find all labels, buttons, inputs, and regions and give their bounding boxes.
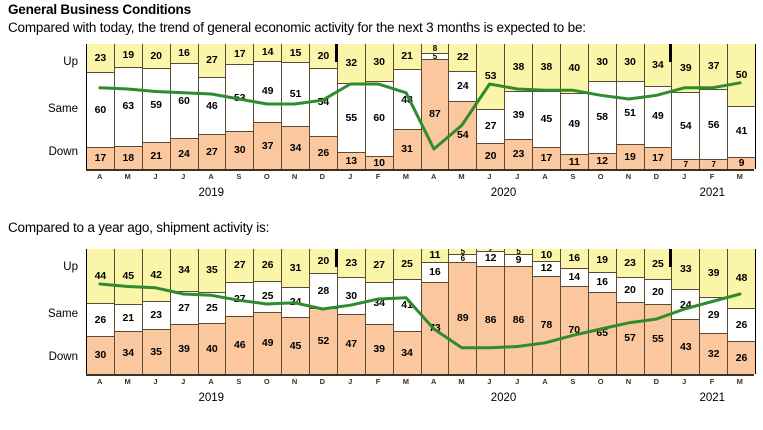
bar-value-label: 10: [541, 250, 553, 261]
bar-segment-up: 34: [171, 249, 198, 292]
bar-value-label: 30: [95, 350, 107, 361]
month-tick-label: D: [643, 377, 671, 386]
stacked-bar-column: 155134: [282, 44, 310, 169]
bar-value-label: 58: [596, 112, 608, 123]
bar-value-label: 21: [401, 51, 413, 62]
stacked-bar-column: 144937: [254, 44, 282, 169]
bar-segment-up: 31: [282, 249, 309, 288]
stacked-bar-column: 384517: [533, 44, 561, 169]
bar-value-label: 34: [290, 143, 302, 154]
bar-segment-down: 39: [171, 325, 198, 374]
bar-value-label: 18: [122, 153, 134, 164]
x-axis-year-labels: 201920202021: [86, 187, 754, 201]
bar-segment-down: 45: [282, 318, 309, 374]
month-tick-label: M: [114, 377, 142, 386]
bar-segment-up: 16: [561, 249, 588, 269]
bar-segment-down: 46: [226, 317, 253, 375]
stacked-bar-column: 196318: [115, 44, 143, 169]
bar-value-label: 41: [736, 126, 748, 137]
bar-segment-up: 25: [645, 249, 672, 280]
bar-value-label: 87: [429, 109, 441, 120]
bar-value-label: 30: [373, 57, 385, 68]
bar-segment-same: 41: [394, 280, 421, 331]
bar-segment-up: 39: [672, 44, 699, 93]
month-tick-label: F: [698, 172, 726, 181]
bar-segment-down: 24: [171, 139, 198, 169]
bar-segment-down: 32: [700, 334, 727, 374]
plot-area: 2360171963182059211660242746271753301449…: [86, 44, 756, 169]
plot-area: 4426304521344223353427393525402727462625…: [86, 249, 756, 374]
bar-segment-down: 52: [310, 309, 337, 374]
bar-value-label: 9: [739, 158, 745, 169]
bar-value-label: 17: [95, 153, 107, 164]
bar-value-label: 38: [513, 62, 525, 73]
bar-value-label: 49: [568, 119, 580, 130]
month-tick-label: N: [281, 377, 309, 386]
bar-segment-same: 49: [254, 62, 281, 123]
bar-value-label: 25: [206, 303, 218, 314]
bar-segment-same: 27: [477, 110, 504, 144]
bar-value-label: 20: [652, 287, 664, 298]
bar-segment-down: 87: [422, 60, 449, 169]
bar-segment-up: 14: [254, 44, 281, 62]
bar-value-label: 30: [596, 57, 608, 68]
stacked-bar-column: 232057: [617, 249, 645, 374]
stacked-bar-column: 352540: [199, 249, 227, 374]
bar-value-label: 45: [290, 341, 302, 352]
bar-value-label: 21: [122, 313, 134, 324]
bar-value-label: 34: [401, 348, 413, 359]
bar-value-label: 12: [485, 253, 497, 264]
bar-segment-same: 24: [449, 72, 476, 102]
bar-segment-same: 45: [533, 92, 560, 148]
bar-value-label: 43: [680, 342, 692, 353]
bar-value-label: 60: [373, 113, 385, 124]
bar-value-label: 7: [684, 161, 688, 169]
y-axis-label-same: Same: [48, 103, 78, 115]
bar-segment-same: 16: [589, 273, 616, 293]
stacked-bar-column: 37567: [700, 44, 728, 169]
bar-segment-same: 20: [617, 278, 644, 303]
bar-segment-up: 25: [394, 249, 421, 280]
stacked-bar-column: 332443: [672, 249, 700, 374]
bar-value-label: 16: [429, 267, 441, 278]
stacked-bar-column: 205921: [143, 44, 171, 169]
bar-value-label: 35: [206, 265, 218, 276]
bar-segment-up: 26: [254, 249, 281, 282]
bar-segment-same: 12: [477, 252, 504, 267]
bar-segment-up: 22: [449, 44, 476, 72]
y-axis-label-up: Up: [63, 261, 78, 273]
bar-segment-same: 29: [700, 298, 727, 334]
x-axis-month-labels: AMJJASONDJFMAMJJASONDJFM: [86, 377, 754, 386]
stacked-bar-column: 8587: [422, 44, 450, 169]
bar-value-label: 44: [95, 271, 107, 282]
bar-segment-down: 30: [226, 132, 253, 170]
bar-value-label: 26: [318, 148, 330, 159]
bar-segment-up: 45: [115, 249, 142, 305]
bar-value-label: 51: [624, 108, 636, 119]
bar-segment-up: 42: [143, 249, 170, 302]
bar-value-label: 54: [457, 130, 469, 141]
y-axis-labels: UpSameDown: [0, 44, 84, 169]
bar-segment-down: 26: [310, 137, 337, 170]
bar-segment-down: 27: [199, 135, 226, 169]
bar-value-label: 8: [433, 45, 437, 53]
bar-segment-same: 28: [310, 274, 337, 309]
bar-segment-down: 39: [366, 325, 393, 374]
stacked-bar-column: 344917: [645, 44, 673, 169]
bar-segment-down: 23: [505, 140, 532, 169]
month-tick-label: S: [559, 377, 587, 386]
bar-segment-down: 17: [533, 148, 560, 169]
bar-segment-up: 16: [171, 44, 198, 64]
bar-value-label: 48: [401, 95, 413, 106]
bar-value-label: 16: [178, 48, 190, 59]
bar-segment-down: 26: [728, 342, 755, 375]
bar-segment-down: 49: [254, 313, 281, 374]
bar-value-label: 37: [708, 61, 720, 72]
bar-value-label: 10: [373, 158, 385, 169]
bar-value-label: 14: [262, 47, 274, 58]
bar-value-label: 24: [178, 149, 190, 160]
month-tick-label: A: [531, 172, 559, 181]
month-tick-label: J: [476, 377, 504, 386]
bar-value-label: 27: [234, 260, 246, 271]
stacked-bar-column: 161470: [561, 249, 589, 374]
bar-value-label: 11: [569, 157, 580, 168]
year-divider: [335, 44, 337, 62]
bar-value-label: 59: [150, 100, 162, 111]
month-tick-label: M: [726, 172, 754, 181]
month-tick-label: A: [86, 172, 114, 181]
bar-segment-down: 73: [422, 283, 449, 374]
month-tick-label: O: [587, 377, 615, 386]
bar-value-label: 50: [736, 70, 748, 81]
bar-segment-up: 15: [282, 44, 309, 63]
bar-value-label: 33: [680, 264, 692, 275]
bar-value-label: 20: [624, 285, 636, 296]
bar-segment-down: 9: [728, 158, 755, 169]
month-tick-label: J: [336, 377, 364, 386]
stacked-bar-column: 205426: [310, 44, 338, 169]
bar-value-label: 53: [234, 93, 246, 104]
bar-segment-up: 48: [728, 249, 755, 309]
bar-value-label: 40: [206, 344, 218, 355]
bar-segment-down: 19: [617, 145, 644, 169]
bar-value-label: 23: [345, 258, 357, 269]
stacked-bar-column: 342739: [171, 249, 199, 374]
bar-segment-same: 54: [310, 69, 337, 137]
bar-value-label: 39: [373, 344, 385, 355]
bar-value-label: 45: [541, 114, 553, 125]
bar-segment-same: 12: [533, 262, 560, 277]
bar-value-label: 27: [206, 55, 218, 66]
bar-segment-same: 24: [282, 288, 309, 318]
bar-value-label: 25: [401, 259, 413, 270]
bar-segment-up: 20: [310, 249, 337, 274]
bar-segment-down: 34: [115, 332, 142, 375]
bar-value-label: 12: [596, 156, 608, 167]
bar-value-label: 27: [373, 260, 385, 271]
bar-value-label: 40: [568, 63, 580, 74]
month-tick-label: N: [281, 172, 309, 181]
bar-value-label: 28: [318, 286, 330, 297]
stacked-bar-column: 111673: [422, 249, 450, 374]
bar-segment-same: 60: [366, 82, 393, 157]
month-tick-label: J: [670, 377, 698, 386]
bar-segment-down: 7: [700, 160, 727, 169]
stacked-bar-column: 233047: [338, 249, 366, 374]
bar-value-label: 54: [318, 97, 330, 108]
bar-segment-down: 31: [394, 130, 421, 169]
bar-value-label: 25: [652, 259, 664, 270]
month-tick-label: M: [448, 377, 476, 386]
bar-value-label: 86: [485, 315, 497, 326]
bar-value-label: 20: [485, 151, 497, 162]
bar-value-label: 52: [318, 336, 330, 347]
y-axis-label-up: Up: [63, 56, 78, 68]
bar-segment-down: 54: [449, 102, 476, 170]
bar-value-label: 17: [541, 153, 553, 164]
bar-segment-up: 27: [199, 44, 226, 78]
month-tick-label: D: [643, 172, 671, 181]
bar-value-label: 86: [513, 315, 525, 326]
y-axis-label-same: Same: [48, 308, 78, 320]
month-tick-label: M: [726, 377, 754, 386]
bar-segment-same: 24: [672, 290, 699, 320]
y-axis-label-down: Down: [49, 146, 78, 158]
bar-value-label: 16: [596, 277, 608, 288]
bar-segment-up: 40: [561, 44, 588, 94]
bar-segment-up: 19: [589, 249, 616, 273]
stacked-bar-column: 50419: [728, 44, 755, 169]
month-tick-label: D: [309, 377, 337, 386]
bar-value-label: 24: [680, 300, 692, 311]
bar-segment-same: 46: [199, 78, 226, 136]
bar-segment-up: 34: [645, 44, 672, 87]
bar-segment-same: 48: [394, 70, 421, 130]
bar-segment-same: 58: [589, 82, 616, 155]
bar-value-label: 29: [708, 310, 720, 321]
stacked-bar-column: 5689: [449, 249, 477, 374]
bar-value-label: 34: [652, 60, 664, 71]
month-tick-label: S: [225, 172, 253, 181]
bar-value-label: 23: [624, 258, 636, 269]
bar-value-label: 23: [95, 53, 107, 64]
stacked-bar-column: 262549: [254, 249, 282, 374]
bar-value-label: 48: [736, 273, 748, 284]
bar-value-label: 31: [290, 263, 302, 274]
bar-segment-up: 37: [700, 44, 727, 90]
bar-segment-same: 27: [226, 283, 253, 317]
bar-segment-same: 23: [143, 302, 170, 331]
bar-value-label: 45: [122, 271, 134, 282]
x-axis-line: [86, 374, 754, 376]
bar-segment-same: 60: [171, 64, 198, 139]
bar-segment-same: 39: [505, 92, 532, 141]
bar-segment-up: 35: [199, 249, 226, 293]
stacked-bar-column: 5986: [505, 249, 533, 374]
bar-value-label: 39: [680, 63, 692, 74]
stacked-bar-column: 306010: [366, 44, 394, 169]
bar-value-label: 16: [568, 253, 580, 264]
month-tick-label: D: [309, 172, 337, 181]
month-tick-label: A: [86, 377, 114, 386]
stacked-bar-column: 325513: [338, 44, 366, 169]
month-tick-label: A: [531, 377, 559, 386]
bar-segment-down: 37: [254, 123, 281, 169]
year-label: 2019: [198, 187, 224, 199]
bar-segment-same: 6: [449, 255, 476, 263]
bar-value-label: 65: [596, 328, 608, 339]
bar-value-label: 78: [541, 320, 553, 331]
bar-segment-same: 27: [171, 292, 198, 326]
year-label: 2020: [491, 187, 517, 199]
x-axis-month-labels: AMJJASONDJFMAMJJASONDJFM: [86, 172, 754, 181]
bar-value-label: 27: [178, 303, 190, 314]
month-tick-label: J: [503, 172, 531, 181]
stacked-bar-column: 166024: [171, 44, 199, 169]
bar-value-label: 19: [122, 50, 134, 61]
bar-segment-down: 30: [87, 337, 114, 375]
stacked-bar-column: 252055: [645, 249, 673, 374]
bar-segment-same: 59: [143, 69, 170, 143]
bar-segment-up: 20: [143, 44, 170, 69]
bar-value-label: 57: [624, 333, 636, 344]
month-tick-label: M: [114, 172, 142, 181]
bar-segment-down: 47: [338, 315, 365, 374]
bar-segment-down: 40: [199, 324, 226, 374]
month-tick-label: J: [169, 172, 197, 181]
bar-value-label: 17: [652, 153, 664, 164]
month-tick-label: F: [364, 377, 392, 386]
bar-segment-up: 30: [589, 44, 616, 82]
bar-value-label: 47: [345, 339, 357, 350]
bar-value-label: 73: [429, 323, 441, 334]
bar-segment-same: 21: [115, 305, 142, 331]
bar-segment-down: 12: [589, 154, 616, 169]
year-label: 2021: [699, 392, 725, 404]
bar-value-label: 27: [234, 294, 246, 305]
bar-value-label: 20: [318, 51, 330, 62]
stacked-bar-column: 272746: [226, 249, 254, 374]
bar-segment-up: 32: [338, 44, 365, 84]
bar-segment-same: 49: [561, 94, 588, 155]
month-tick-label: N: [615, 172, 643, 181]
bar-value-label: 41: [401, 300, 413, 311]
bar-segment-up: 44: [87, 249, 114, 304]
stacked-bar-column: 175330: [226, 44, 254, 169]
year-label: 2020: [491, 392, 517, 404]
bar-segment-same: 51: [617, 82, 644, 146]
stacked-bar-column: 39547: [672, 44, 700, 169]
bar-segment-up: 23: [87, 44, 114, 73]
bar-segment-down: 65: [589, 293, 616, 374]
bar-value-label: 9: [516, 255, 522, 265]
month-tick-label: J: [142, 377, 170, 386]
bar-segment-down: 18: [115, 147, 142, 170]
bar-value-label: 20: [150, 51, 162, 62]
bar-segment-up: 27: [226, 249, 253, 283]
bar-value-label: 30: [234, 145, 246, 156]
month-tick-label: O: [253, 377, 281, 386]
month-tick-label: M: [392, 172, 420, 181]
bar-segment-same: 53: [226, 65, 253, 131]
stacked-bar-column: 305119: [617, 44, 645, 169]
bar-value-label: 34: [373, 298, 385, 309]
month-tick-label: A: [420, 172, 448, 181]
bar-value-label: 19: [596, 255, 608, 266]
bar-value-label: 39: [178, 344, 190, 355]
bar-segment-down: 57: [617, 303, 644, 374]
year-label: 2021: [699, 187, 725, 199]
bar-value-label: 54: [680, 121, 692, 132]
y-axis-labels: UpSameDown: [0, 249, 84, 374]
stacked-bar-column: 482626: [728, 249, 755, 374]
stacked-bar-column: 274627: [199, 44, 227, 169]
bar-segment-down: 43: [672, 320, 699, 374]
bar-value-label: 42: [150, 270, 162, 281]
month-tick-label: J: [503, 377, 531, 386]
bar-segment-up: 21: [394, 44, 421, 70]
year-divider: [669, 44, 671, 62]
month-tick-label: S: [225, 377, 253, 386]
bar-value-label: 55: [652, 334, 664, 345]
bar-value-label: 46: [234, 340, 246, 351]
bar-value-label: 24: [290, 297, 302, 308]
bar-segment-down: 21: [143, 143, 170, 169]
bar-value-label: 26: [262, 260, 274, 271]
bar-segment-down: 86: [477, 267, 504, 375]
bar-value-label: 63: [122, 101, 134, 112]
month-tick-label: J: [336, 172, 364, 181]
bar-segment-up: 50: [728, 44, 755, 107]
month-tick-label: O: [253, 172, 281, 181]
year-divider: [335, 249, 337, 267]
month-tick-label: A: [197, 377, 225, 386]
bar-value-label: 14: [568, 272, 580, 283]
bar-segment-up: 53: [477, 44, 504, 110]
bar-value-label: 13: [345, 156, 357, 167]
bar-segment-same: 49: [645, 87, 672, 148]
stacked-bar-column: 101278: [533, 249, 561, 374]
stacked-bar-column: 214831: [394, 44, 422, 169]
bar-value-label: 11: [429, 250, 440, 261]
month-tick-label: J: [169, 377, 197, 386]
bar-segment-down: 17: [645, 148, 672, 169]
stacked-bar-column: 273439: [366, 249, 394, 374]
bar-segment-up: 38: [533, 44, 560, 92]
bar-value-label: 6: [461, 255, 465, 262]
bar-value-label: 24: [457, 81, 469, 92]
bar-value-label: 21: [150, 151, 162, 162]
y-axis-label-down: Down: [49, 351, 78, 363]
stacked-bar-column: 254134: [394, 249, 422, 374]
bar-segment-same: 9: [505, 255, 532, 266]
bar-segment-up: 20: [310, 44, 337, 69]
stacked-bar-column: 442630: [87, 249, 115, 374]
bar-segment-same: 26: [87, 304, 114, 337]
bar-segment-up: 17: [226, 44, 253, 65]
bar-value-label: 49: [262, 86, 274, 97]
bar-segment-down: 10: [366, 157, 393, 170]
bar-segment-same: 63: [115, 68, 142, 147]
bar-segment-up: 23: [338, 249, 365, 278]
bar-value-label: 35: [150, 347, 162, 358]
bar-value-label: 27: [485, 121, 497, 132]
bar-segment-same: 34: [366, 283, 393, 326]
